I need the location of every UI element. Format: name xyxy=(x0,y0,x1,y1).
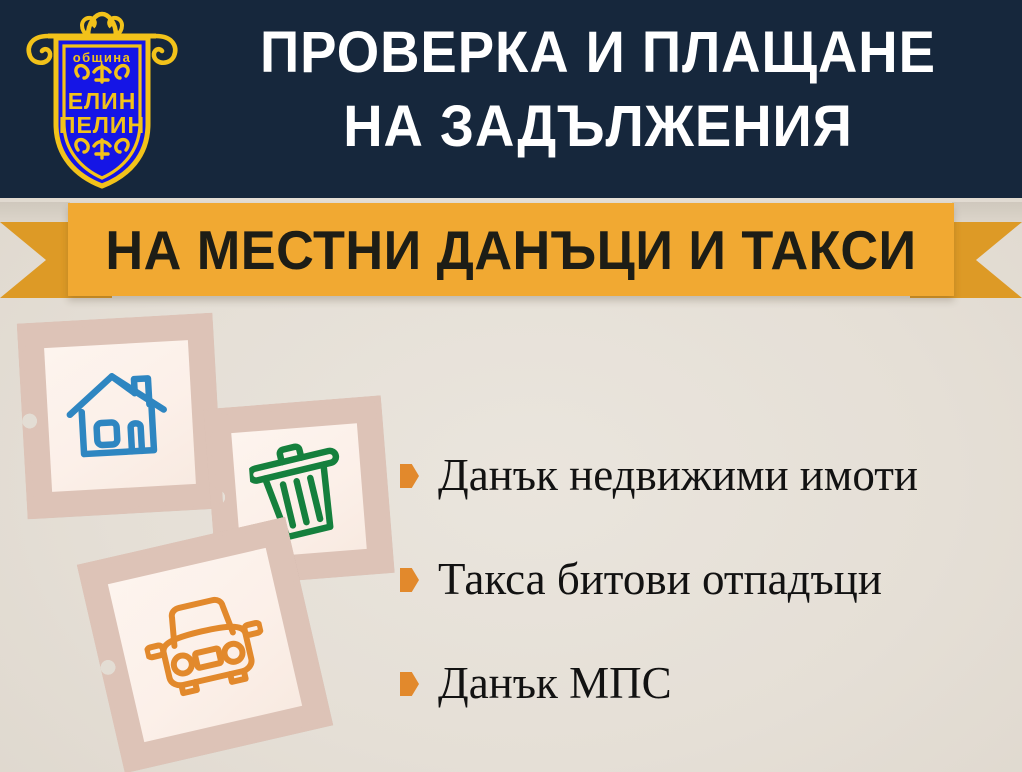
car-icon xyxy=(135,583,274,707)
arrow-bullet-icon xyxy=(400,568,419,592)
arrow-bullet-icon xyxy=(400,672,419,696)
list-item-label: Такса битови отпадъци xyxy=(438,555,882,605)
list-item[interactable]: Такса битови отпадъци xyxy=(400,528,1010,632)
coat-of-arms-icon: община ЕЛИН ПЕЛИН xyxy=(18,6,186,194)
page-title-line-2: НА ЗАДЪЛЖЕНИЯ xyxy=(211,90,986,164)
ribbon-shadow-right xyxy=(952,202,1022,224)
house-icon xyxy=(61,363,178,469)
list-item[interactable]: Данък недвижими имоти xyxy=(400,424,1010,528)
svg-text:ЕЛИН: ЕЛИН xyxy=(68,88,137,114)
list-item-label: Данък недвижими имоти xyxy=(438,451,918,501)
poster-canvas: община ЕЛИН ПЕЛИН ПРОВЕРКА И ПЛАЩ xyxy=(0,0,1022,772)
ribbon-shadow-left xyxy=(0,202,70,224)
ribbon-bar: НА МЕСТНИ ДАНЪЦИ И ТАКСИ xyxy=(68,203,954,296)
list-item-label: Данък МПС xyxy=(438,659,672,709)
stamp-inner-car xyxy=(108,548,302,742)
tax-type-list: Данък недвижими имоти Такса битови отпад… xyxy=(400,424,1010,736)
stamp-card-house xyxy=(17,313,224,520)
stamp-inner-house xyxy=(44,340,196,492)
page-title-line-1: ПРОВЕРКА И ПЛАЩАНЕ xyxy=(211,16,986,90)
svg-text:община: община xyxy=(73,50,131,65)
header-title-group: ПРОВЕРКА И ПЛАЩАНЕ НА ЗАДЪЛЖЕНИЯ xyxy=(186,16,1010,164)
arrow-bullet-icon xyxy=(400,464,419,488)
subtitle-ribbon: НА МЕСТНИ ДАНЪЦИ И ТАКСИ xyxy=(0,198,1022,308)
list-item[interactable]: Данък МПС xyxy=(400,632,1010,736)
ribbon-label: НА МЕСТНИ ДАНЪЦИ И ТАКСИ xyxy=(90,203,932,296)
svg-text:ПЕЛИН: ПЕЛИН xyxy=(59,112,145,138)
